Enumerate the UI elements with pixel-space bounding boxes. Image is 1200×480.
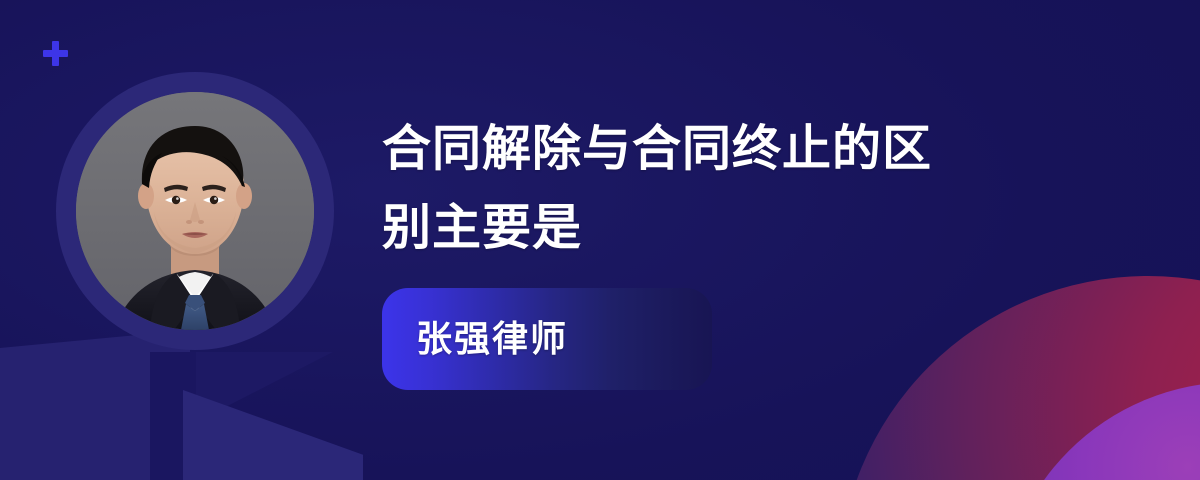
plus-icon xyxy=(43,41,68,66)
portrait-illustration xyxy=(76,92,314,330)
avatar xyxy=(56,72,334,350)
lawyer-name-button[interactable]: 张强律师 xyxy=(382,288,712,390)
lawyer-name-label: 张强律师 xyxy=(416,321,568,357)
video-banner: 合同解除与合同终止的区 别主要是 张强律师 xyxy=(0,0,1200,480)
page-title: 合同解除与合同终止的区 别主要是 xyxy=(382,110,982,268)
headline-block: 合同解除与合同终止的区 别主要是 xyxy=(382,110,982,268)
avatar-photo xyxy=(76,92,314,330)
